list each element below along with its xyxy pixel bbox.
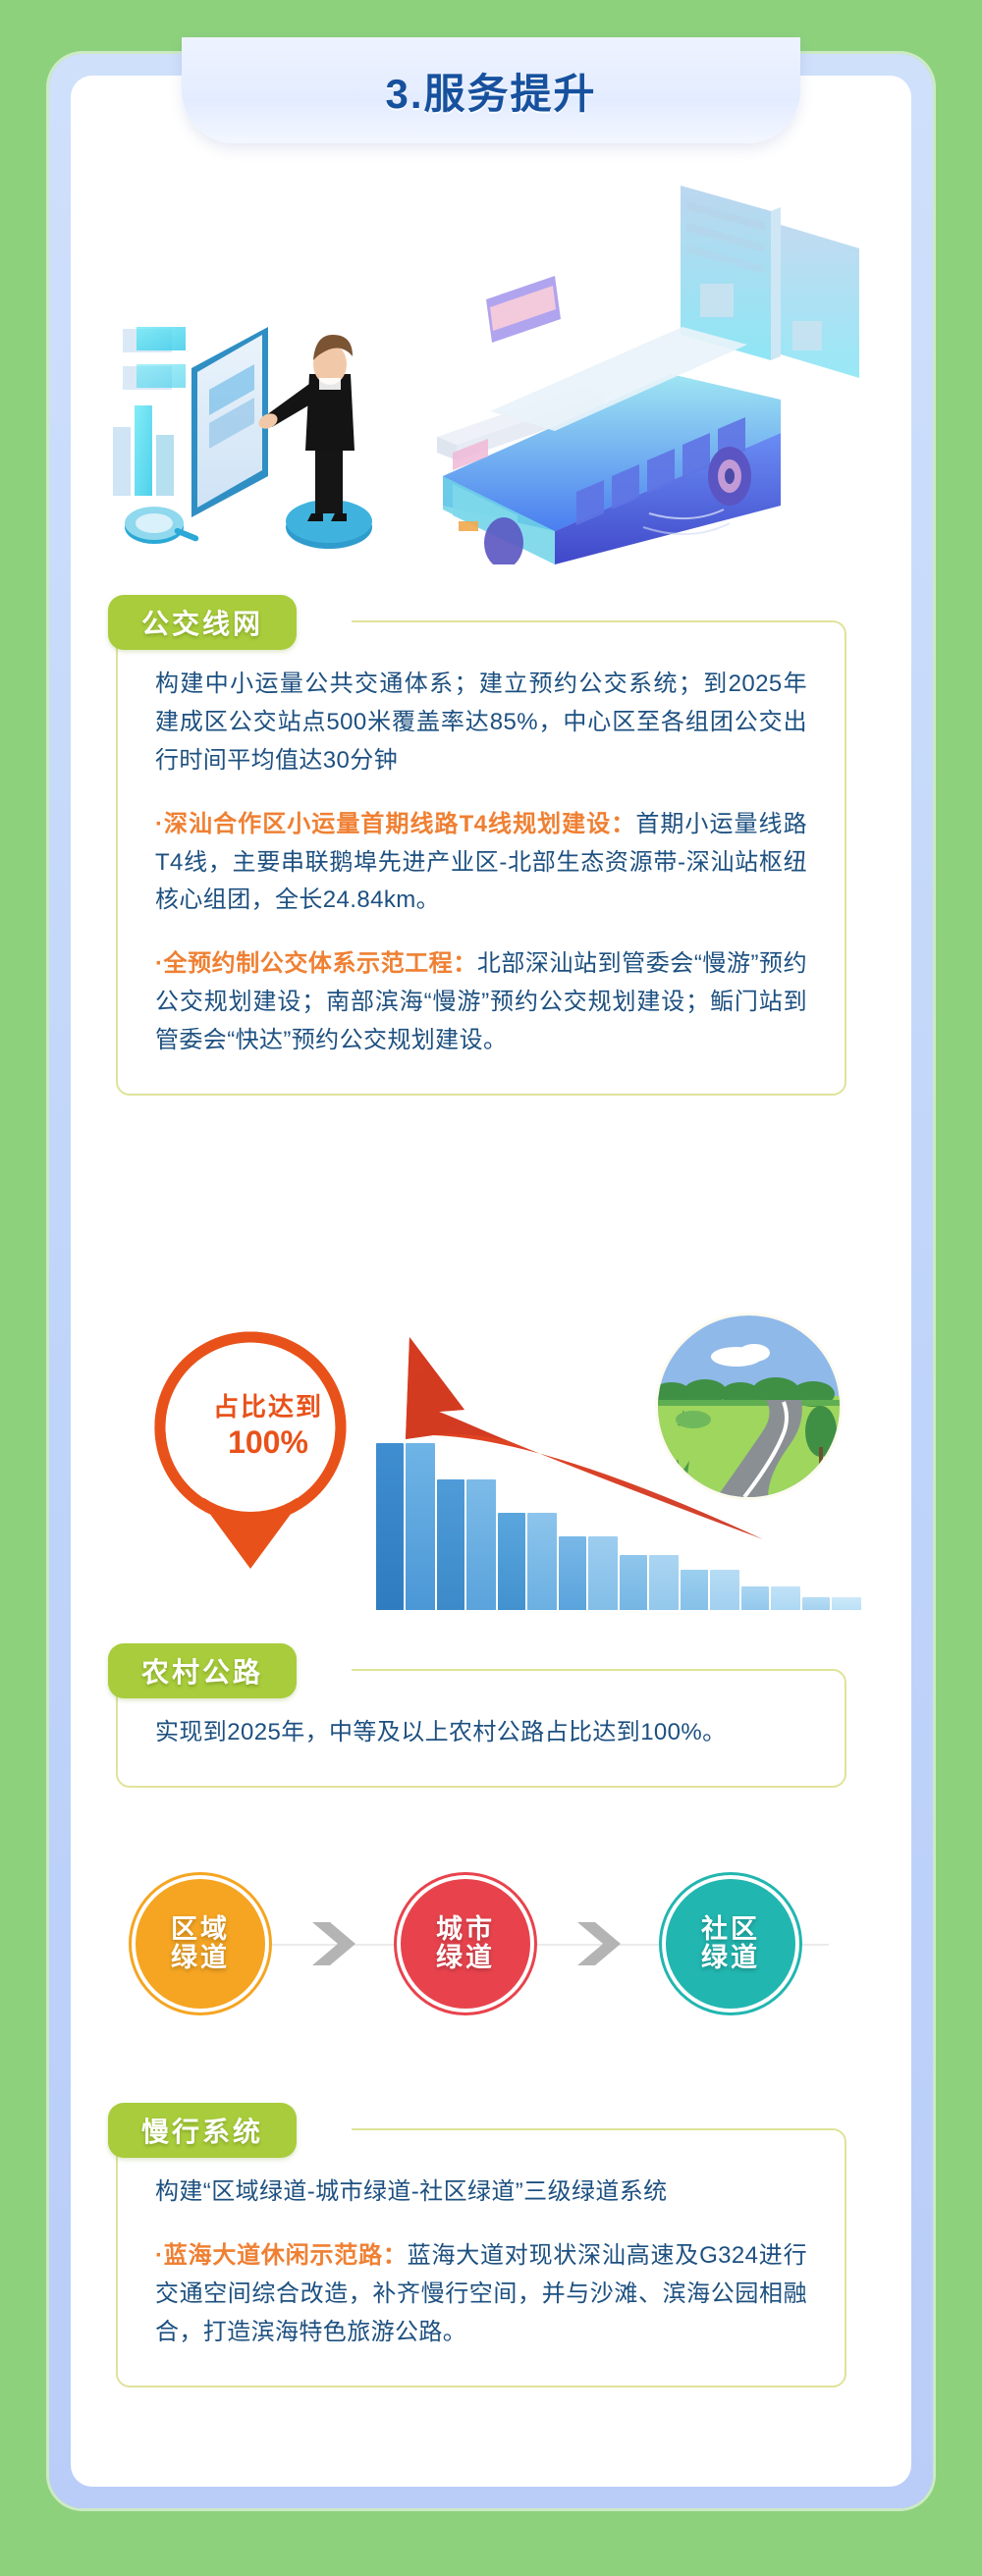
magnifier-icon xyxy=(125,507,199,544)
paragraph-text: 构建“区域绿道-城市绿道-社区绿道”三级绿道系统 xyxy=(155,2178,668,2205)
businessman-figure xyxy=(256,335,372,549)
countryside-road-photo xyxy=(658,1315,840,1497)
paragraph: ·深汕合作区小运量首期线路T4线规划建设：首期小运量线路T4线，主要串联鹅埠先进… xyxy=(155,806,807,921)
percentage-pin: 占比达到 100% xyxy=(137,1325,363,1571)
paragraph: 实现到2025年，中等及以上农村公路占比达到100%。 xyxy=(155,1714,807,1752)
bar xyxy=(681,1570,708,1610)
paragraph: 构建中小运量公共交通体系；建立预约公交系统；到2025年建成区公交站点500米覆… xyxy=(155,666,807,780)
greenway-circle-city: 城市 绿道 xyxy=(401,1879,530,2009)
bar xyxy=(832,1597,861,1610)
greenway-line-1: 城市 xyxy=(436,1915,495,1944)
greenway-line-2: 绿道 xyxy=(171,1944,230,1972)
greenway-line-2: 绿道 xyxy=(701,1944,760,1972)
isometric-transit-illustration xyxy=(93,182,869,564)
bar xyxy=(771,1586,800,1610)
paragraph-text: 构建中小运量公共交通体系；建立预约公交系统；到2025年建成区公交站点500米覆… xyxy=(155,671,807,774)
paragraph: 构建“区域绿道-城市绿道-社区绿道”三级绿道系统 xyxy=(155,2173,807,2212)
section-box: 公交线网 构建中小运量公共交通体系；建立预约公交系统；到2025年建成区公交站点… xyxy=(116,620,846,1096)
section-box: 慢行系统 构建“区域绿道-城市绿道-社区绿道”三级绿道系统 ·蓝海大道休闲示范路… xyxy=(116,2128,846,2388)
pin-text: 占比达到 100% xyxy=(194,1392,342,1462)
greenway-chain: 区域 绿道 城市 绿道 社区 绿道 xyxy=(116,1871,846,2018)
section-rural-road: 农村公路 实现到2025年，中等及以上农村公路占比达到100%。 xyxy=(116,1669,846,1788)
greenway-circle-community: 社区 绿道 xyxy=(666,1879,795,2009)
pin-line-2: 100% xyxy=(194,1423,342,1462)
bar xyxy=(710,1570,739,1610)
page-title: 3.服务提升 xyxy=(182,37,800,143)
section-badge-bus-network: 公交线网 xyxy=(108,595,297,650)
greenway-line-2: 绿道 xyxy=(436,1944,495,1972)
section-badge-slow-traffic: 慢行系统 xyxy=(108,2103,297,2158)
header-banner: 3.服务提升 xyxy=(0,0,982,157)
paragraph: ·全预约制公交体系示范工程：北部深汕站到管委会“慢游”预约公交规划建设；南部滨海… xyxy=(155,945,807,1060)
rural-road-chart: 占比达到 100% xyxy=(113,1315,869,1610)
section-slow-traffic: 慢行系统 构建“区域绿道-城市绿道-社区绿道”三级绿道系统 ·蓝海大道休闲示范路… xyxy=(116,2128,846,2388)
greenway-circle-regional: 区域 绿道 xyxy=(136,1879,265,2009)
smartphone-screen xyxy=(191,327,268,517)
paragraph-lead: ·蓝海大道休闲示范路： xyxy=(155,2242,408,2269)
greenway-line-1: 区域 xyxy=(171,1915,230,1944)
chevron-right-icon xyxy=(573,1920,625,1967)
bar xyxy=(802,1597,830,1610)
paragraph-lead: ·全预约制公交体系示范工程： xyxy=(155,950,477,977)
infographic-page: 3.服务提升 xyxy=(0,0,982,2576)
chevron-right-icon xyxy=(308,1920,359,1967)
bar-chart-icon xyxy=(113,327,186,496)
section-bus-network: 公交线网 构建中小运量公共交通体系；建立预约公交系统；到2025年建成区公交站点… xyxy=(116,620,846,1096)
section-box: 农村公路 实现到2025年，中等及以上农村公路占比达到100%。 xyxy=(116,1669,846,1788)
pin-line-1: 占比达到 xyxy=(194,1392,342,1423)
section-badge-rural-road: 农村公路 xyxy=(108,1643,297,1698)
bar xyxy=(741,1586,769,1610)
paragraph-lead: ·深汕合作区小运量首期线路T4线规划建设： xyxy=(155,811,635,837)
greenway-line-1: 社区 xyxy=(701,1915,760,1944)
paragraph-text: 实现到2025年，中等及以上农村公路占比达到100%。 xyxy=(155,1719,727,1745)
paragraph: ·蓝海大道休闲示范路：蓝海大道对现状深汕高速及G324进行交通空间综合改造，补齐… xyxy=(155,2237,807,2352)
